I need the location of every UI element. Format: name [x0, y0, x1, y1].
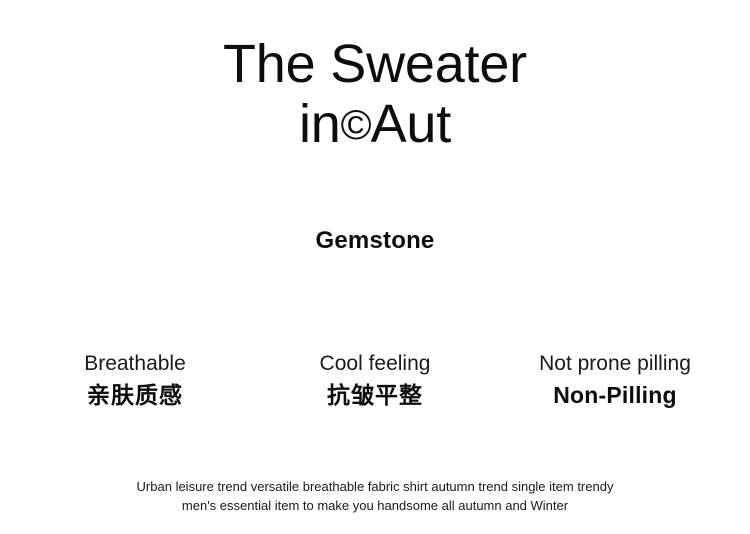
feature-label-en: Cool feeling [262, 351, 488, 378]
feature-label-sub: Non-Pilling [502, 381, 728, 411]
title-line-2-suffix: Aut [371, 94, 451, 154]
poster-subtitle: Gemstone [0, 227, 750, 255]
feature-item-non-pilling: Not prone pilling Non-Pilling [502, 351, 728, 411]
feature-label-sub: 抗皱平整 [262, 381, 488, 411]
poster-footer: Urban leisure trend versatile breathable… [0, 478, 750, 516]
title-line-2: in©Aut [0, 94, 750, 154]
feature-item-breathable: Breathable 亲肤质感 [22, 351, 248, 411]
title-line-2-prefix: in [299, 94, 341, 154]
subtitle-text: Gemstone [0, 227, 750, 255]
copyright-icon: © [341, 101, 371, 148]
feature-item-cool-feeling: Cool feeling 抗皱平整 [262, 351, 488, 411]
footer-line-2: men's essential item to make you handsom… [0, 497, 750, 516]
footer-line-1: Urban leisure trend versatile breathable… [0, 478, 750, 497]
feature-label-en: Breathable [22, 351, 248, 378]
title-line-1: The Sweater [0, 34, 750, 94]
feature-row: Breathable 亲肤质感 Cool feeling 抗皱平整 Not pr… [0, 351, 750, 411]
feature-label-en: Not prone pilling [502, 351, 728, 378]
product-poster: The Sweater in©Aut Gemstone Breathable 亲… [0, 0, 750, 534]
poster-title: The Sweater in©Aut [0, 34, 750, 155]
feature-label-sub: 亲肤质感 [22, 381, 248, 411]
